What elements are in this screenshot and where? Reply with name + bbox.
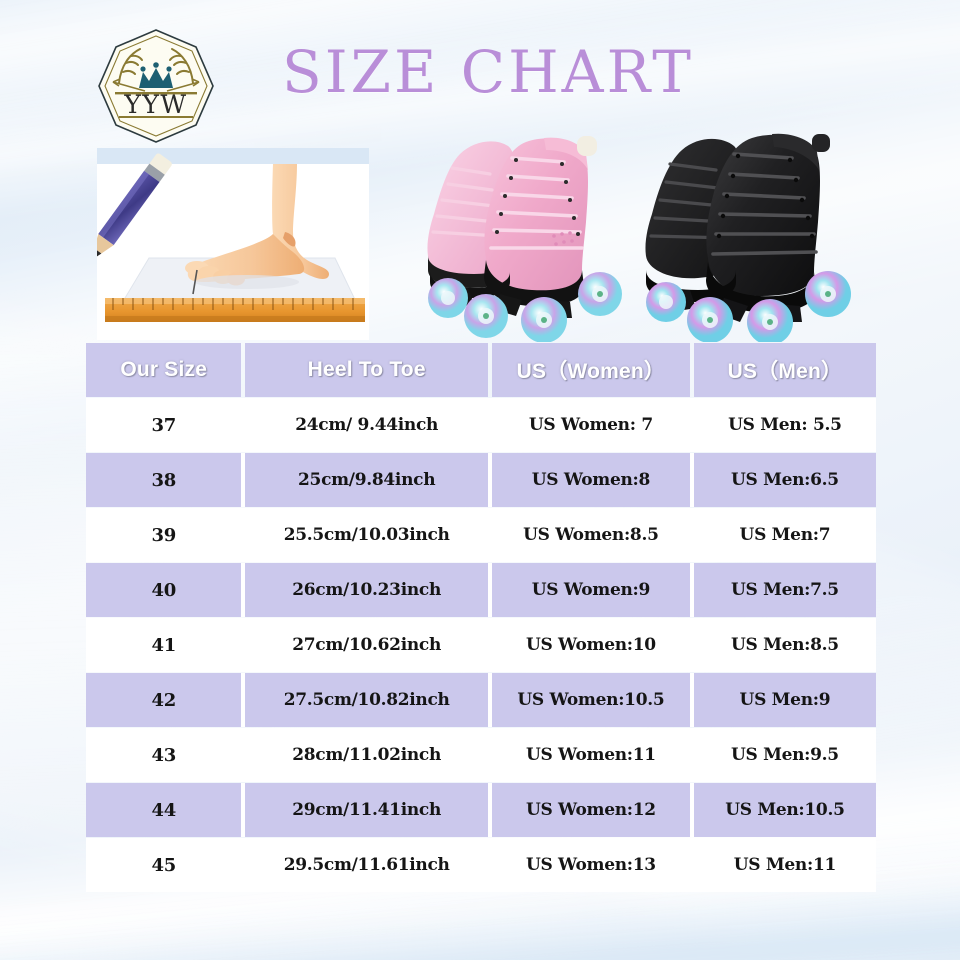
cell-us-women: US Women: 7 bbox=[492, 398, 690, 452]
cell-us-women: US Women:9 bbox=[492, 563, 690, 617]
cell-our-size: 40 bbox=[86, 563, 241, 617]
cell-us-men: US Men:7 bbox=[694, 508, 876, 562]
column-header-our-size: Our Size bbox=[86, 343, 241, 397]
column-header-heel-to-toe: Heel To Toe bbox=[245, 343, 488, 397]
cell-heel-to-toe: 24cm/ 9.44inch bbox=[245, 398, 488, 452]
table-row: 37 24cm/ 9.44inch US Women: 7 US Men: 5.… bbox=[86, 398, 876, 452]
page-title: SIZE CHART bbox=[282, 36, 702, 108]
black-roller-skates-icon bbox=[624, 130, 856, 342]
table-row: 38 25cm/9.84inch US Women:8 US Men:6.5 bbox=[86, 453, 876, 507]
cell-us-men: US Men:8.5 bbox=[694, 618, 876, 672]
cell-heel-to-toe: 29.5cm/11.61inch bbox=[245, 838, 488, 892]
cell-our-size: 44 bbox=[86, 783, 241, 837]
cell-heel-to-toe: 26cm/10.23inch bbox=[245, 563, 488, 617]
column-header-us-men: US（Men） bbox=[694, 343, 876, 397]
crown-laurel-badge-icon: YYW bbox=[97, 27, 215, 145]
table-row: 43 28cm/11.02inch US Women:11 US Men:9.5 bbox=[86, 728, 876, 782]
cell-us-women: US Women:13 bbox=[492, 838, 690, 892]
cell-our-size: 39 bbox=[86, 508, 241, 562]
table-row: 45 29.5cm/11.61inch US Women:13 US Men:1… bbox=[86, 838, 876, 892]
cell-heel-to-toe: 27.5cm/10.82inch bbox=[245, 673, 488, 727]
cell-us-men: US Men:9.5 bbox=[694, 728, 876, 782]
foot-pencil-ruler-icon bbox=[97, 148, 369, 340]
cell-our-size: 45 bbox=[86, 838, 241, 892]
cell-us-women: US Women:11 bbox=[492, 728, 690, 782]
cell-our-size: 41 bbox=[86, 618, 241, 672]
cell-heel-to-toe: 25cm/9.84inch bbox=[245, 453, 488, 507]
cell-our-size: 38 bbox=[86, 453, 241, 507]
pink-roller-skates-icon bbox=[404, 130, 626, 342]
cell-us-women: US Women:12 bbox=[492, 783, 690, 837]
cell-our-size: 43 bbox=[86, 728, 241, 782]
cell-us-men: US Men: 5.5 bbox=[694, 398, 876, 452]
table-row: 40 26cm/10.23inch US Women:9 US Men:7.5 bbox=[86, 563, 876, 617]
cell-us-women: US Women:10 bbox=[492, 618, 690, 672]
size-chart-table: Our Size Heel To Toe US（Women） US（Men） 3… bbox=[86, 343, 876, 893]
cell-us-men: US Men:10.5 bbox=[694, 783, 876, 837]
cell-heel-to-toe: 29cm/11.41inch bbox=[245, 783, 488, 837]
cell-us-men: US Men:11 bbox=[694, 838, 876, 892]
cell-us-women: US Women:8 bbox=[492, 453, 690, 507]
size-chart-page: YYW SIZE CHART bbox=[0, 0, 960, 960]
cell-us-women: US Women:10.5 bbox=[492, 673, 690, 727]
table-row: 41 27cm/10.62inch US Women:10 US Men:8.5 bbox=[86, 618, 876, 672]
cell-us-men: US Men:7.5 bbox=[694, 563, 876, 617]
cell-us-men: US Men:6.5 bbox=[694, 453, 876, 507]
cell-our-size: 42 bbox=[86, 673, 241, 727]
cell-us-women: US Women:8.5 bbox=[492, 508, 690, 562]
table-row: 39 25.5cm/10.03inch US Women:8.5 US Men:… bbox=[86, 508, 876, 562]
cell-our-size: 37 bbox=[86, 398, 241, 452]
cell-heel-to-toe: 27cm/10.62inch bbox=[245, 618, 488, 672]
column-header-us-women: US（Women） bbox=[492, 343, 690, 397]
cell-heel-to-toe: 28cm/11.02inch bbox=[245, 728, 488, 782]
cell-us-men: US Men:9 bbox=[694, 673, 876, 727]
table-row: 44 29cm/11.41inch US Women:12 US Men:10.… bbox=[86, 783, 876, 837]
logo-text: YYW bbox=[123, 90, 187, 119]
table-row: 42 27.5cm/10.82inch US Women:10.5 US Men… bbox=[86, 673, 876, 727]
table-header-row: Our Size Heel To Toe US（Women） US（Men） bbox=[86, 343, 876, 397]
cell-heel-to-toe: 25.5cm/10.03inch bbox=[245, 508, 488, 562]
